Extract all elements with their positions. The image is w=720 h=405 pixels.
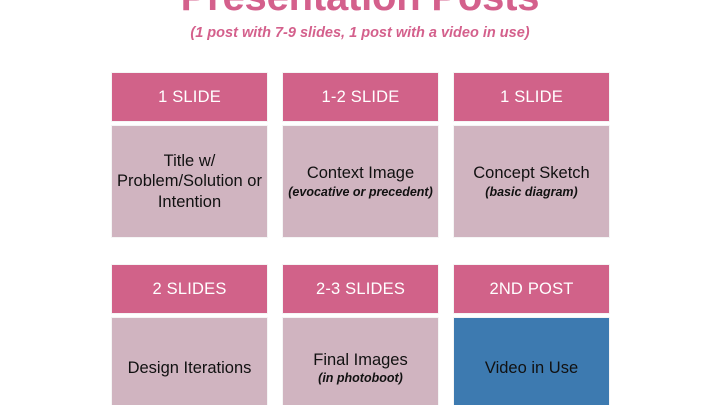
card-body-main: Video in Use xyxy=(485,358,578,379)
card-body-sub: (basic diagram) xyxy=(485,185,577,200)
card-body: Context Image (evocative or precedent) xyxy=(283,126,438,237)
card-header-badge: 2 SLIDES xyxy=(112,265,267,313)
card-header-badge: 1 SLIDE xyxy=(112,73,267,121)
card-header-badge: 1-2 SLIDE xyxy=(283,73,438,121)
card-body: Video in Use xyxy=(454,318,609,405)
card-body: Title w/ Problem/Solution or Intention xyxy=(112,126,267,237)
card-body: Design Iterations xyxy=(112,318,267,405)
card-body-sub: (in photoboot) xyxy=(318,371,403,386)
card-body-main: Final Images xyxy=(313,350,407,371)
page-title: Presentation Posts xyxy=(0,0,720,20)
card-grid: 1 SLIDE Title w/ Problem/Solution or Int… xyxy=(112,73,610,405)
presentation-slide: Presentation Posts (1 post with 7-9 slid… xyxy=(0,0,720,405)
card-row-1: 1 SLIDE Title w/ Problem/Solution or Int… xyxy=(112,73,610,237)
card-video-in-use[interactable]: 2ND POST Video in Use xyxy=(454,265,609,405)
card-row-2: 2 SLIDES Design Iterations 2-3 SLIDES Fi… xyxy=(112,265,610,405)
card-body: Concept Sketch (basic diagram) xyxy=(454,126,609,237)
card-body-sub: (evocative or precedent) xyxy=(288,185,433,200)
card-body-main: Title w/ Problem/Solution or Intention xyxy=(116,151,263,213)
page-subtitle: (1 post with 7-9 slides, 1 post with a v… xyxy=(0,26,720,42)
slide-header: Presentation Posts (1 post with 7-9 slid… xyxy=(0,0,720,42)
card-concept-sketch[interactable]: 1 SLIDE Concept Sketch (basic diagram) xyxy=(454,73,609,237)
card-body-main: Design Iterations xyxy=(128,358,252,379)
card-final-images[interactable]: 2-3 SLIDES Final Images (in photoboot) xyxy=(283,265,438,405)
card-header-badge: 1 SLIDE xyxy=(454,73,609,121)
card-context-image[interactable]: 1-2 SLIDE Context Image (evocative or pr… xyxy=(283,73,438,237)
card-body-main: Concept Sketch xyxy=(473,163,589,184)
card-header-badge: 2-3 SLIDES xyxy=(283,265,438,313)
card-design-iterations[interactable]: 2 SLIDES Design Iterations xyxy=(112,265,267,405)
card-title-slide[interactable]: 1 SLIDE Title w/ Problem/Solution or Int… xyxy=(112,73,267,237)
card-body: Final Images (in photoboot) xyxy=(283,318,438,405)
card-header-badge: 2ND POST xyxy=(454,265,609,313)
card-body-main: Context Image xyxy=(307,163,414,184)
